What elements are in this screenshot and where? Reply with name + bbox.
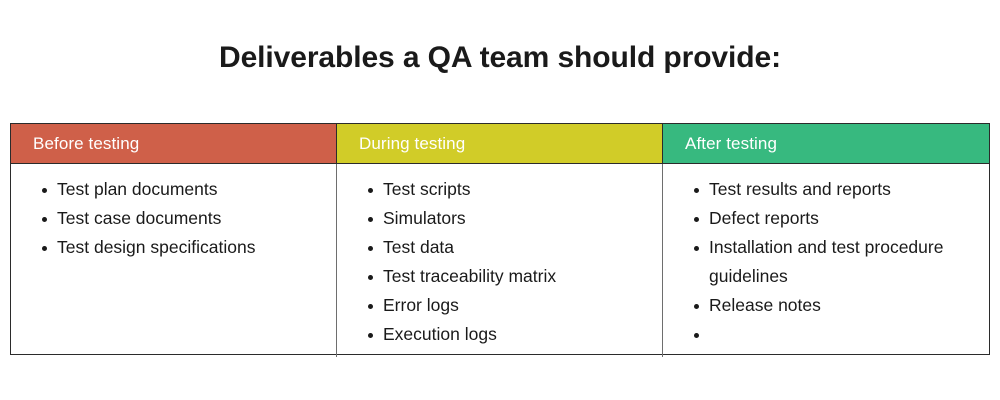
table-cell-before-testing: Test plan documents Test case documents … xyxy=(11,164,337,357)
table-cell-during-testing: Test scripts Simulators Test data Test t… xyxy=(337,164,663,357)
list-item: Release notes xyxy=(709,291,977,320)
list-item-empty xyxy=(709,320,977,349)
column-header-during-testing: During testing xyxy=(337,124,663,163)
column-header-label: Before testing xyxy=(33,134,139,154)
infographic-page: Deliverables a QA team should provide: B… xyxy=(0,0,1000,400)
list-item: Test traceability matrix xyxy=(383,262,650,291)
table-header-row: Before testing During testing After test… xyxy=(11,124,989,164)
deliverables-list-after-testing: Test results and reports Defect reports … xyxy=(675,175,977,349)
page-title: Deliverables a QA team should provide: xyxy=(0,40,1000,76)
list-item: Test data xyxy=(383,233,650,262)
table-cell-after-testing: Test results and reports Defect reports … xyxy=(663,164,989,357)
list-item: Error logs xyxy=(383,291,650,320)
deliverables-list-before-testing: Test plan documents Test case documents … xyxy=(23,175,324,262)
list-item: Simulators xyxy=(383,204,650,233)
deliverables-table: Before testing During testing After test… xyxy=(10,123,990,355)
list-item: Test plan documents xyxy=(57,175,324,204)
column-header-label: After testing xyxy=(685,134,777,154)
list-item: Execution logs xyxy=(383,320,650,349)
list-item: Test scripts xyxy=(383,175,650,204)
column-header-after-testing: After testing xyxy=(663,124,989,163)
column-header-label: During testing xyxy=(359,134,465,154)
list-item: Test design specifications xyxy=(57,233,324,262)
list-item: Installation and test procedure guidelin… xyxy=(709,233,977,291)
deliverables-list-during-testing: Test scripts Simulators Test data Test t… xyxy=(349,175,650,349)
list-item: Defect reports xyxy=(709,204,977,233)
table-body-row: Test plan documents Test case documents … xyxy=(11,164,989,357)
list-item: Test results and reports xyxy=(709,175,977,204)
column-header-before-testing: Before testing xyxy=(11,124,337,163)
list-item: Test case documents xyxy=(57,204,324,233)
